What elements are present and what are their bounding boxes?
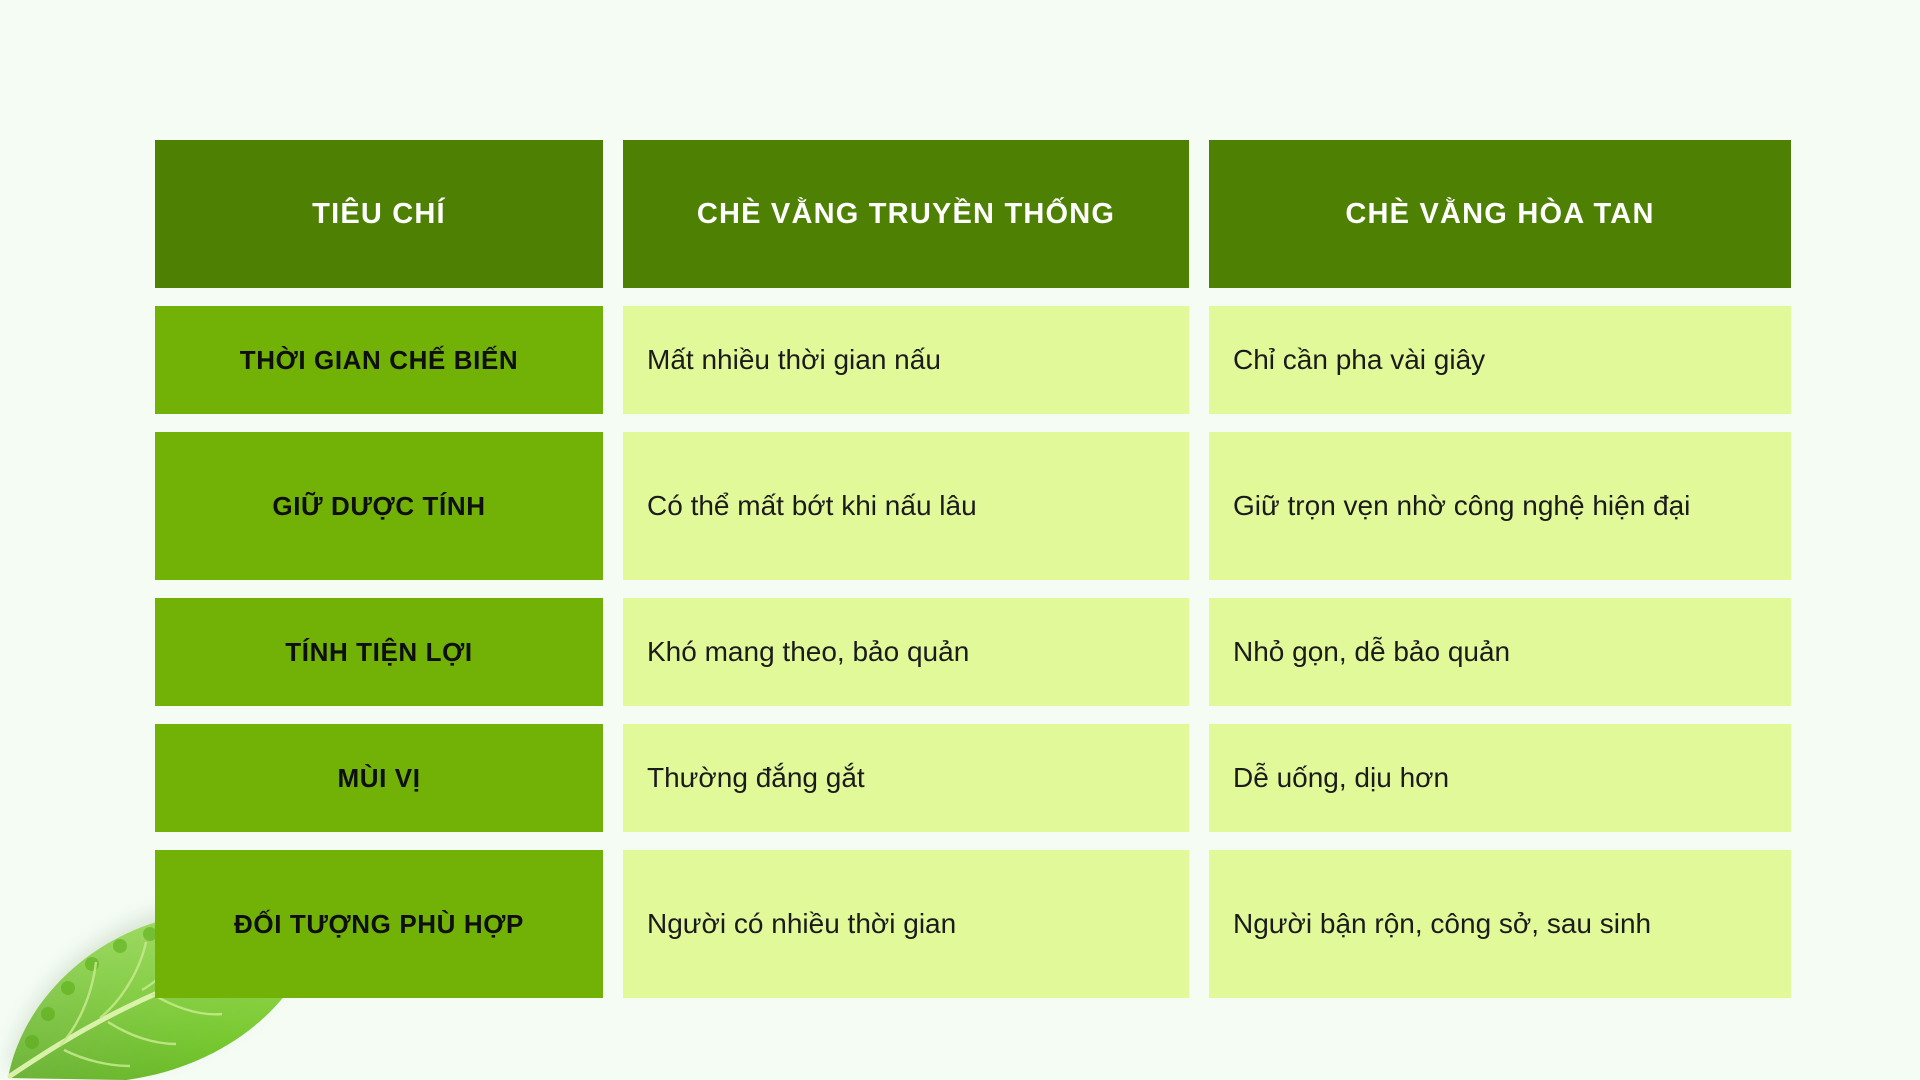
cell-traditional-processing-time: Mất nhiều thời gian nấu — [623, 306, 1189, 414]
row-label-processing-time: THỜI GIAN CHẾ BIẾN — [155, 306, 603, 414]
column-header-traditional: CHÈ VẰNG TRUYỀN THỐNG — [623, 140, 1189, 288]
column-header-instant: CHÈ VẰNG HÒA TAN — [1209, 140, 1791, 288]
cell-traditional-convenience: Khó mang theo, bảo quản — [623, 598, 1189, 706]
table-row: TÍNH TIỆN LỢI Khó mang theo, bảo quản Nh… — [155, 598, 1795, 706]
row-label-convenience: TÍNH TIỆN LỢI — [155, 598, 603, 706]
cell-instant-taste: Dễ uống, dịu hơn — [1209, 724, 1791, 832]
column-header-criteria: TIÊU CHÍ — [155, 140, 603, 288]
table-row: THỜI GIAN CHẾ BIẾN Mất nhiều thời gian n… — [155, 306, 1795, 414]
row-label-medicinal-retention: GIỮ DƯỢC TÍNH — [155, 432, 603, 580]
cell-traditional-medicinal-retention: Có thể mất bớt khi nấu lâu — [623, 432, 1189, 580]
cell-instant-convenience: Nhỏ gọn, dễ bảo quản — [1209, 598, 1791, 706]
comparison-table: TIÊU CHÍ CHÈ VẰNG TRUYỀN THỐNG CHÈ VẰNG … — [155, 140, 1795, 998]
cell-instant-medicinal-retention: Giữ trọn vẹn nhờ công nghệ hiện đại — [1209, 432, 1791, 580]
cell-traditional-target-audience: Người có nhiều thời gian — [623, 850, 1189, 998]
table-row: ĐỐI TƯỢNG PHÙ HỢP Người có nhiều thời gi… — [155, 850, 1795, 998]
row-label-target-audience: ĐỐI TƯỢNG PHÙ HỢP — [155, 850, 603, 998]
table-header-row: TIÊU CHÍ CHÈ VẰNG TRUYỀN THỐNG CHÈ VẰNG … — [155, 140, 1795, 288]
cell-instant-processing-time: Chỉ cần pha vài giây — [1209, 306, 1791, 414]
table-row: GIỮ DƯỢC TÍNH Có thể mất bớt khi nấu lâu… — [155, 432, 1795, 580]
row-label-taste: MÙI VỊ — [155, 724, 603, 832]
cell-traditional-taste: Thường đắng gắt — [623, 724, 1189, 832]
cell-instant-target-audience: Người bận rộn, công sở, sau sinh — [1209, 850, 1791, 998]
table-row: MÙI VỊ Thường đắng gắt Dễ uống, dịu hơn — [155, 724, 1795, 832]
